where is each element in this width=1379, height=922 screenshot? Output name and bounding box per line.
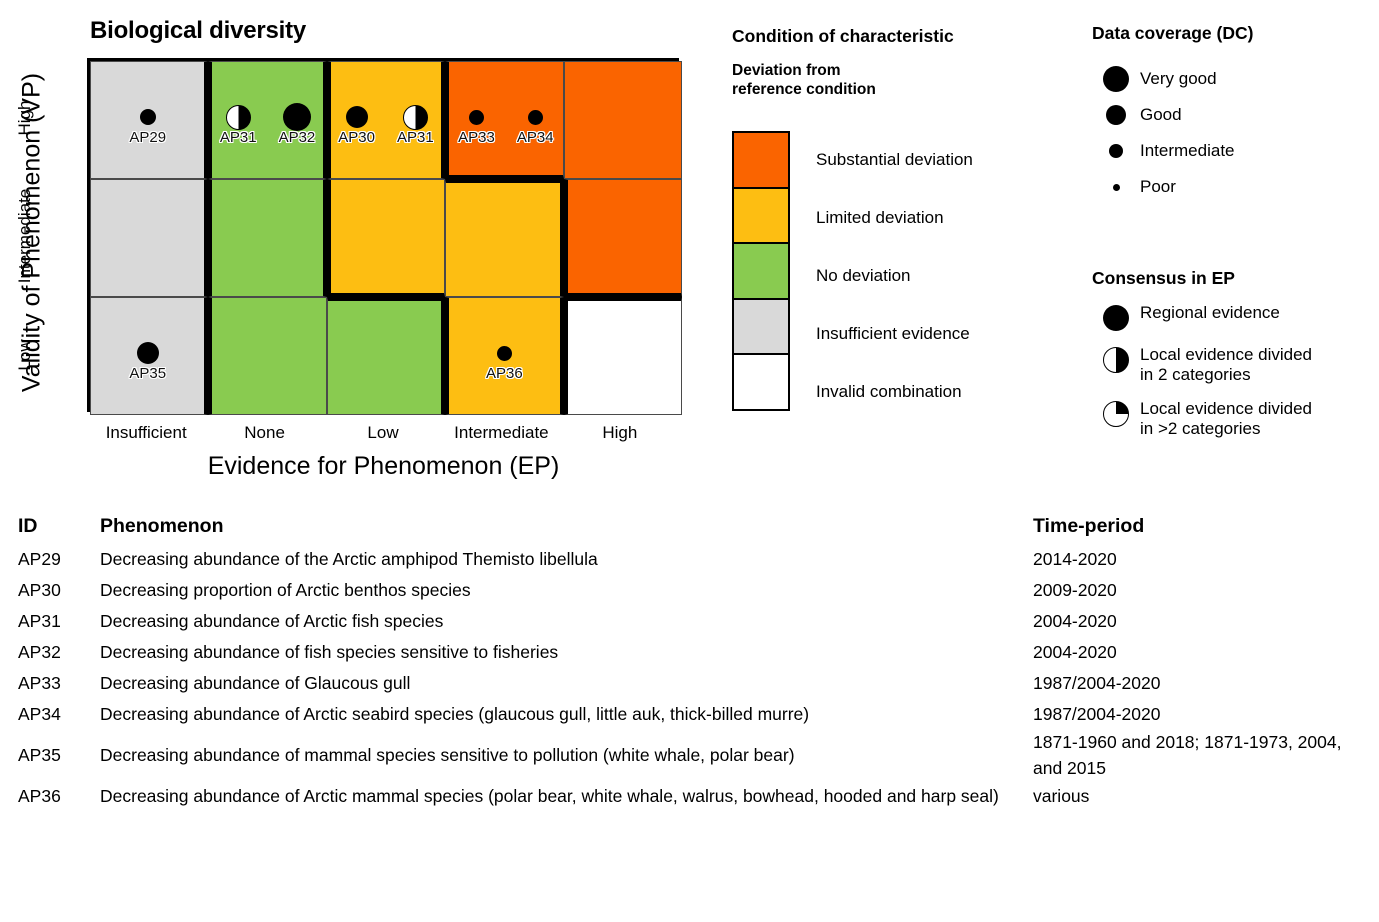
consensus-full-dot-icon bbox=[140, 109, 156, 125]
consensus-full-dot-icon bbox=[346, 106, 368, 128]
legend-consensus-title: Consensus in EP bbox=[1092, 268, 1379, 289]
matrix-cell bbox=[564, 179, 682, 297]
x-axis-title: Evidence for Phenomenon (EP) bbox=[87, 452, 680, 481]
table-cell-time-period: 2004-2020 bbox=[1033, 640, 1363, 665]
marker-label: AP31 bbox=[397, 129, 434, 146]
marker-label: AP32 bbox=[279, 129, 316, 146]
marker-group: AP33AP34 bbox=[449, 102, 562, 146]
table-row: AP32Decreasing abundance of fish species… bbox=[18, 637, 1363, 668]
matrix-cell: AP33AP34 bbox=[445, 61, 563, 179]
matrix-cell: AP35 bbox=[90, 297, 208, 415]
marker-group: AP31AP32 bbox=[212, 102, 322, 146]
table-row: AP33Decreasing abundance of Glaucous gul… bbox=[18, 668, 1363, 699]
legend-swatch-substantial bbox=[732, 131, 790, 189]
legend-consensus-label: Local evidence dividedin >2 categories bbox=[1140, 399, 1312, 439]
table-row: AP36Decreasing abundance of Arctic mamma… bbox=[18, 781, 1363, 812]
phenomenon-marker[interactable]: AP33 bbox=[458, 102, 495, 146]
phenomenon-marker[interactable]: AP35 bbox=[129, 338, 166, 382]
marker-dot-wrap bbox=[528, 102, 543, 132]
legend-condition-labels: Substantial deviationLimited deviationNo… bbox=[816, 131, 973, 421]
table-cell-phenomenon: Decreasing abundance of Arctic seabird s… bbox=[100, 702, 1033, 727]
matrix-cell: AP31AP32 bbox=[208, 61, 326, 179]
legend-dc-label: Very good bbox=[1140, 69, 1217, 89]
marker-dot-wrap bbox=[346, 102, 368, 132]
legend-consensus-label: Regional evidence bbox=[1140, 303, 1280, 323]
table-cell-id: AP33 bbox=[18, 673, 100, 694]
legend-consensus-label-line2: in 2 categories bbox=[1140, 365, 1312, 385]
consensus-full-dot-icon bbox=[469, 110, 484, 125]
legend-consensus-row: Local evidence dividedin 2 categories bbox=[1092, 345, 1379, 385]
legend-consensus-dot-cell bbox=[1092, 345, 1140, 373]
marker-label: AP36 bbox=[486, 365, 523, 382]
table-cell-id: AP32 bbox=[18, 642, 100, 663]
consensus-full-dot-icon bbox=[1103, 305, 1129, 331]
legend-consensus-label-line1: Regional evidence bbox=[1140, 303, 1280, 323]
marker-dot-wrap bbox=[469, 102, 484, 132]
marker-label: AP34 bbox=[517, 129, 554, 146]
legend-swatch-label: Insufficient evidence bbox=[816, 305, 973, 363]
table-cell-id: AP36 bbox=[18, 786, 100, 807]
matrix-cell bbox=[327, 297, 445, 415]
matrix-cell bbox=[564, 61, 682, 179]
legend-swatch-limited bbox=[732, 187, 790, 245]
legend-swatch-label: Invalid combination bbox=[816, 363, 973, 421]
legend-dc-label: Good bbox=[1140, 105, 1182, 125]
data-coverage-dot-icon bbox=[1106, 105, 1126, 125]
legend-dc-dot-cell bbox=[1092, 144, 1140, 158]
data-coverage-dot-icon bbox=[1103, 66, 1129, 92]
table-header-row: ID Phenomenon Time-period bbox=[18, 512, 1363, 540]
table-cell-id: AP30 bbox=[18, 580, 100, 601]
legend-swatch-insufficient bbox=[732, 298, 790, 356]
x-axis-tick-high: High bbox=[550, 423, 690, 443]
legend-swatch-invalid bbox=[732, 353, 790, 411]
table-cell-phenomenon: Decreasing abundance of fish species sen… bbox=[100, 640, 1033, 665]
legend-data-coverage-title: Data coverage (DC) bbox=[1092, 23, 1379, 44]
legend-dc-row: Good bbox=[1092, 98, 1379, 132]
legend-consensus-label: Local evidence dividedin 2 categories bbox=[1140, 345, 1312, 385]
y-axis-tick-low: Low bbox=[15, 295, 35, 415]
consensus-half-dot-icon bbox=[403, 105, 428, 130]
legend-condition-title: Condition of characteristic bbox=[732, 26, 1032, 47]
data-coverage-dot-icon bbox=[1109, 144, 1123, 158]
phenomenon-marker[interactable]: AP36 bbox=[486, 338, 523, 382]
legend-dc-label: Intermediate bbox=[1140, 141, 1235, 161]
matrix-cell bbox=[564, 297, 682, 415]
marker-label: AP33 bbox=[458, 129, 495, 146]
legend-dc-label: Poor bbox=[1140, 177, 1176, 197]
table-header-phenomenon: Phenomenon bbox=[100, 512, 1033, 540]
phenomena-table: ID Phenomenon Time-period AP29Decreasing… bbox=[18, 512, 1363, 812]
table-cell-time-period: 1987/2004-2020 bbox=[1033, 702, 1363, 727]
table-cell-time-period: various bbox=[1033, 784, 1363, 809]
marker-label: AP35 bbox=[129, 365, 166, 382]
marker-dot-wrap bbox=[137, 338, 159, 368]
table-cell-phenomenon: Decreasing proportion of Arctic benthos … bbox=[100, 578, 1033, 603]
legend-consensus-dot-cell bbox=[1092, 399, 1140, 427]
legend-dc-dot-cell bbox=[1092, 66, 1140, 92]
legend-condition-subtitle-line1: Deviation from bbox=[732, 61, 1032, 80]
table-cell-id: AP29 bbox=[18, 549, 100, 570]
marker-label: AP29 bbox=[129, 129, 166, 146]
table-cell-time-period: 2009-2020 bbox=[1033, 578, 1363, 603]
table-row: AP29Decreasing abundance of the Arctic a… bbox=[18, 544, 1363, 575]
legend-swatch-label: No deviation bbox=[816, 247, 973, 305]
legend-dc-row: Very good bbox=[1092, 62, 1379, 96]
legend-consensus-label-line1: Local evidence divided bbox=[1140, 399, 1312, 419]
page-title: Biological diversity bbox=[90, 17, 306, 45]
marker-group: AP36 bbox=[449, 338, 559, 382]
legend-consensus-in-ep: Consensus in EP Regional evidenceLocal e… bbox=[1092, 268, 1379, 439]
marker-group: AP30AP31 bbox=[331, 102, 441, 146]
table-row: AP30Decreasing proportion of Arctic bent… bbox=[18, 575, 1363, 606]
table-cell-phenomenon: Decreasing abundance of the Arctic amphi… bbox=[100, 547, 1033, 572]
table-cell-phenomenon: Decreasing abundance of Arctic mammal sp… bbox=[100, 784, 1033, 809]
consensus-full-dot-icon bbox=[497, 346, 512, 361]
table-cell-phenomenon: Decreasing abundance of mammal species s… bbox=[100, 743, 1033, 768]
table-cell-id: AP34 bbox=[18, 704, 100, 725]
phenomenon-marker[interactable]: AP29 bbox=[129, 102, 166, 146]
legend-consensus-label-line1: Local evidence divided bbox=[1140, 345, 1312, 365]
marker-dot-wrap bbox=[226, 102, 251, 132]
legend-data-coverage: Data coverage (DC) Very goodGoodIntermed… bbox=[1092, 23, 1379, 204]
consensus-full-dot-icon bbox=[283, 103, 311, 131]
table-row: AP34Decreasing abundance of Arctic seabi… bbox=[18, 699, 1363, 730]
table-cell-phenomenon: Decreasing abundance of Arctic fish spec… bbox=[100, 609, 1033, 634]
legend-consensus-dot-cell bbox=[1092, 303, 1140, 331]
legend-condition-swatches bbox=[732, 131, 790, 409]
legend-swatch-label: Substantial deviation bbox=[816, 131, 973, 189]
table-header-id: ID bbox=[18, 515, 100, 538]
legend-consensus-row: Local evidence dividedin >2 categories bbox=[1092, 399, 1379, 439]
matrix-cell: AP36 bbox=[445, 297, 563, 415]
table-cell-id: AP31 bbox=[18, 611, 100, 632]
phenomenon-marker[interactable]: AP31 bbox=[220, 102, 257, 146]
marker-label: AP31 bbox=[220, 129, 257, 146]
phenomenon-marker[interactable]: AP31 bbox=[397, 102, 434, 146]
marker-group: AP35 bbox=[91, 338, 204, 382]
table-row: AP31Decreasing abundance of Arctic fish … bbox=[18, 606, 1363, 637]
matrix-cell bbox=[90, 179, 208, 297]
matrix-cell bbox=[208, 297, 326, 415]
legend-condition-subtitle: Deviation from reference condition bbox=[732, 61, 1032, 100]
legend-dc-row: Intermediate bbox=[1092, 134, 1379, 168]
y-axis-tick-high: High bbox=[15, 58, 35, 178]
legend-condition-of-characteristic: Condition of characteristic Deviation fr… bbox=[732, 26, 1032, 100]
legend-swatch-none bbox=[732, 242, 790, 300]
marker-dot-wrap bbox=[140, 102, 156, 132]
table-cell-time-period: 1871-1960 and 2018; 1871-1973, 2004, and… bbox=[1033, 730, 1363, 781]
matrix-cell bbox=[208, 179, 326, 297]
legend-dc-row: Poor bbox=[1092, 170, 1379, 204]
table-cell-phenomenon: Decreasing abundance of Glaucous gull bbox=[100, 671, 1033, 696]
consensus-half-dot-icon bbox=[1103, 347, 1129, 373]
legend-dc-dot-cell bbox=[1092, 184, 1140, 191]
table-row: AP35Decreasing abundance of mammal speci… bbox=[18, 730, 1363, 781]
marker-dot-wrap bbox=[403, 102, 428, 132]
consensus-full-dot-icon bbox=[137, 342, 159, 364]
phenomenon-marker[interactable]: AP30 bbox=[338, 102, 375, 146]
evidence-validity-matrix: AP29AP31AP32AP30AP31AP33AP34AP35AP36 bbox=[87, 58, 679, 412]
marker-dot-wrap bbox=[283, 102, 311, 132]
consensus-quarter-dot-icon bbox=[1103, 401, 1129, 427]
matrix-cell: AP29 bbox=[90, 61, 208, 179]
legend-condition-subtitle-line2: reference condition bbox=[732, 80, 1032, 99]
matrix-cell bbox=[327, 179, 445, 297]
table-cell-time-period: 2014-2020 bbox=[1033, 547, 1363, 572]
marker-label: AP30 bbox=[338, 129, 375, 146]
table-cell-time-period: 2004-2020 bbox=[1033, 609, 1363, 634]
data-coverage-dot-icon bbox=[1113, 184, 1120, 191]
table-header-time-period: Time-period bbox=[1033, 512, 1363, 540]
y-axis-tick-intermediate: Intermediate bbox=[15, 176, 35, 296]
matrix-cell bbox=[445, 179, 563, 297]
table-cell-id: AP35 bbox=[18, 745, 100, 766]
legend-dc-dot-cell bbox=[1092, 105, 1140, 125]
matrix-cell: AP30AP31 bbox=[327, 61, 445, 179]
legend-swatch-label: Limited deviation bbox=[816, 189, 973, 247]
marker-group: AP29 bbox=[91, 102, 204, 146]
consensus-half-dot-icon bbox=[226, 105, 251, 130]
table-cell-time-period: 1987/2004-2020 bbox=[1033, 671, 1363, 696]
consensus-full-dot-icon bbox=[528, 110, 543, 125]
marker-dot-wrap bbox=[497, 338, 512, 368]
legend-consensus-row: Regional evidence bbox=[1092, 303, 1379, 331]
phenomenon-marker[interactable]: AP32 bbox=[279, 102, 316, 146]
phenomenon-marker[interactable]: AP34 bbox=[517, 102, 554, 146]
legend-consensus-label-line2: in >2 categories bbox=[1140, 419, 1312, 439]
